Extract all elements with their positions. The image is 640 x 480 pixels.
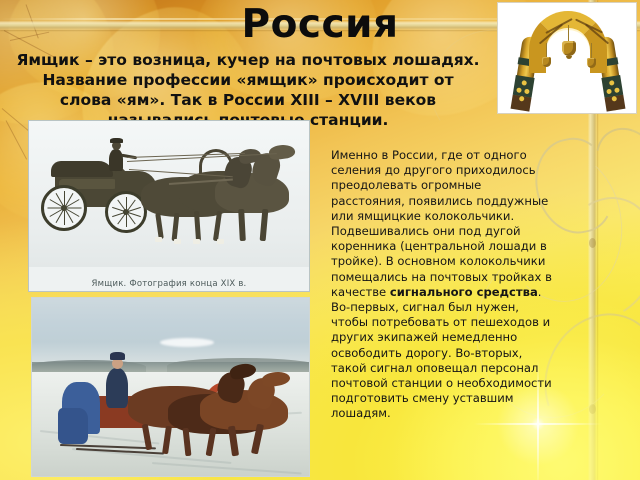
horse-leg	[238, 209, 246, 241]
horse-leg	[172, 213, 180, 241]
horse-leg	[155, 213, 164, 239]
driver-hat	[110, 352, 125, 360]
bell-cord	[546, 43, 547, 58]
bell-icon	[587, 58, 596, 68]
coachman-body	[109, 149, 123, 171]
duga-illustration	[498, 3, 636, 113]
body-text-part-1: Именно в России, где от одного селения д…	[331, 148, 552, 299]
body-text-part-2: . Во-первых, сигнал был нужен, чтобы пот…	[331, 285, 552, 421]
body-text-highlight: сигнального средства	[390, 285, 538, 299]
stem-node	[589, 238, 596, 248]
presentation-slide: Россия Ямщик – это возница, кучер на поч…	[0, 0, 640, 480]
coachman-carriage-illustration	[29, 121, 309, 267]
subtitle-line: Название профессии «ямщик» происходит от	[4, 70, 492, 90]
carriage-rear-wheel	[41, 185, 87, 231]
horse-hoof	[174, 239, 181, 244]
subtitle-line: слова «ям». Так в России XIII – XVIII ве…	[4, 90, 492, 110]
duga-bells-image	[497, 2, 637, 114]
body-paragraph: Именно в России, где от одного селения д…	[331, 148, 553, 422]
horse-hoof	[193, 239, 200, 244]
horse-leg	[260, 209, 269, 241]
painting-cloud	[160, 338, 214, 347]
carriage-hood	[51, 161, 113, 177]
horse-body	[200, 390, 288, 430]
horse-hoof	[155, 237, 162, 242]
troika-painting-figure	[31, 297, 310, 477]
sleigh-apron	[58, 408, 88, 444]
coachman-hat	[110, 138, 123, 143]
slide-subtitle: Ямщик – это возница, кучер на почтовых л…	[4, 50, 492, 130]
bell-icon	[562, 41, 576, 56]
bell-cord	[568, 25, 569, 42]
horse-head	[268, 143, 296, 160]
bell-cord	[591, 43, 592, 59]
horse-hoof	[217, 239, 224, 244]
bell-icon	[542, 57, 551, 67]
coachman-photo-figure: Ямщик. Фотография конца XIX в.	[28, 120, 310, 292]
subtitle-line: Ямщик – это возница, кучер на почтовых л…	[4, 50, 492, 70]
photo-caption: Ямщик. Фотография конца XIX в.	[29, 279, 309, 289]
driver-body	[106, 368, 128, 408]
